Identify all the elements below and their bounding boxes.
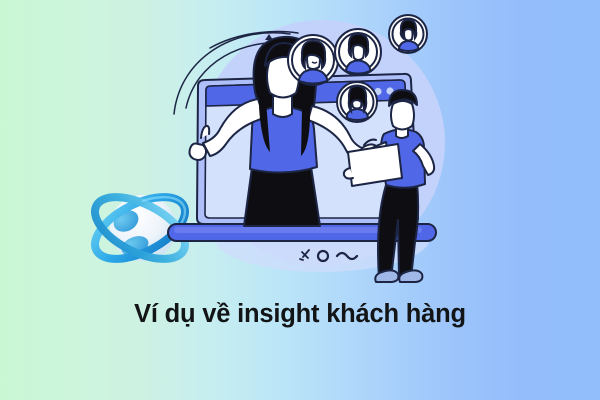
avatar-bubble-3[interactable] <box>389 15 427 53</box>
man-legs <box>378 180 418 278</box>
customer-insight-illustration <box>150 0 480 290</box>
poster-canvas: Ví dụ về insight khách hàng <box>0 0 600 400</box>
title-container: Ví dụ về insight khách hàng <box>0 292 600 336</box>
woman-left-hand <box>190 144 207 160</box>
avatar-bubble-2[interactable] <box>335 29 381 75</box>
page-title: Ví dụ về insight khách hàng <box>134 300 466 329</box>
man-tablet <box>348 144 402 186</box>
avatar-bubble-4[interactable] <box>337 82 377 122</box>
man-face <box>391 101 414 130</box>
avatar-bubble-1[interactable] <box>288 35 338 85</box>
